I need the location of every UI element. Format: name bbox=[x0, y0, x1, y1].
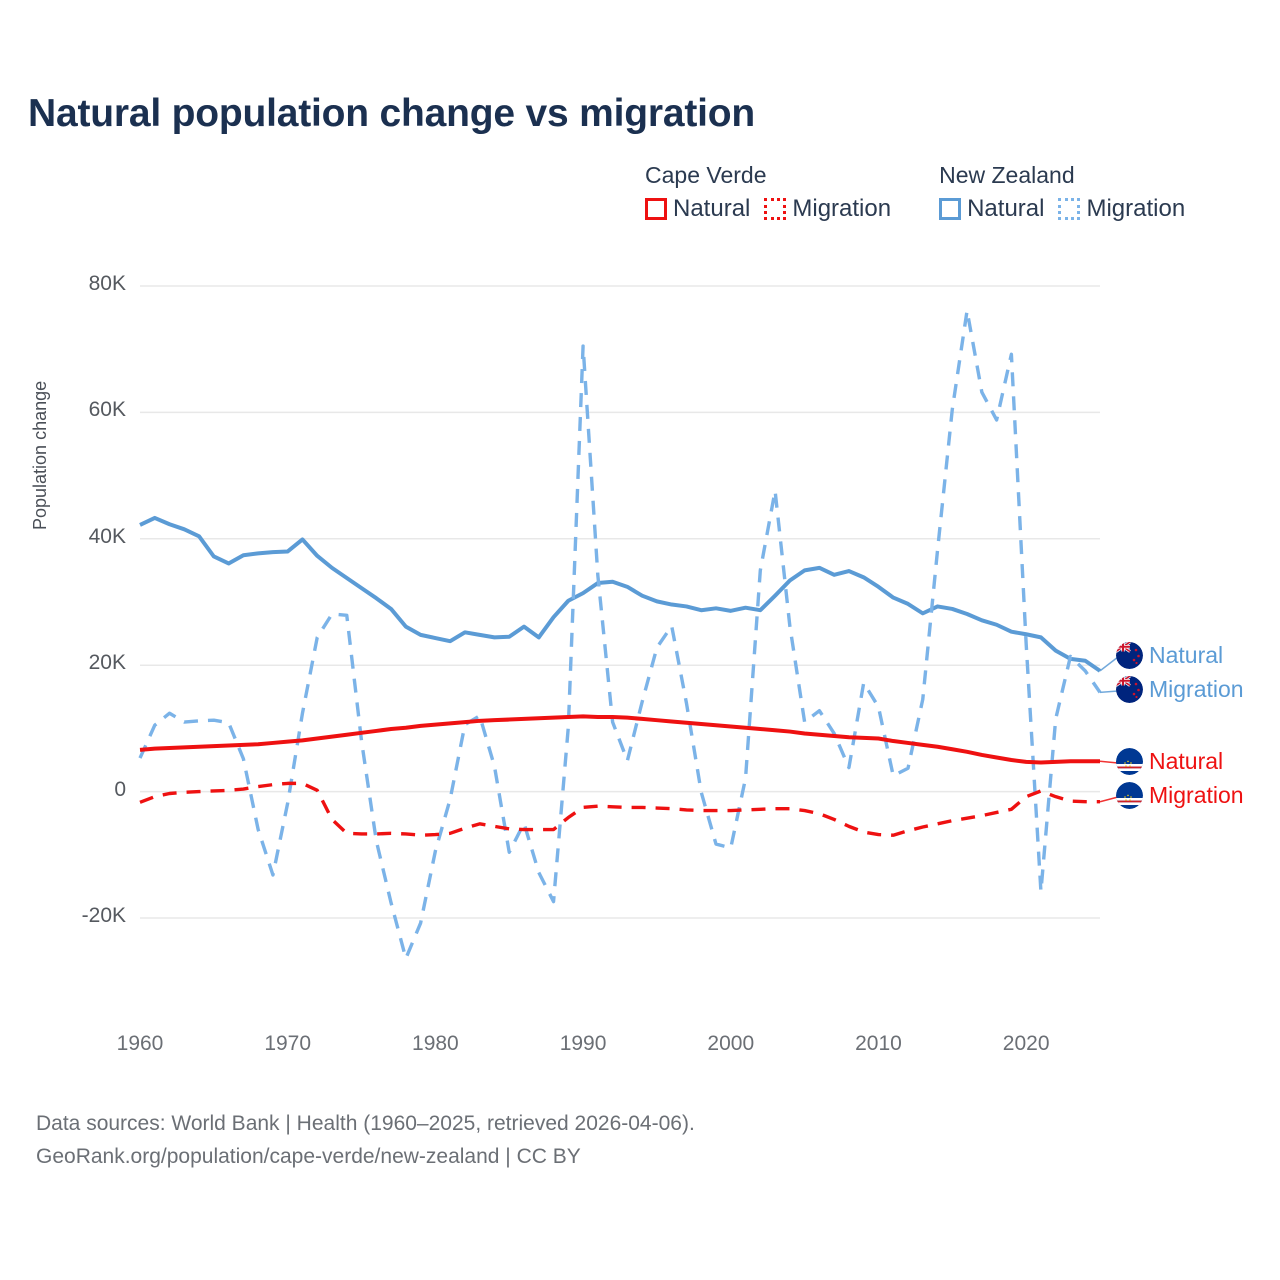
cape-verde-flag-icon bbox=[1116, 782, 1143, 809]
end-label-text: Natural bbox=[1149, 748, 1223, 775]
x-axis-tick-label: 1980 bbox=[390, 1032, 480, 1056]
y-axis-tick-label: 20K bbox=[36, 651, 126, 675]
footer-line-sources: Data sources: World Bank | Health (1960–… bbox=[36, 1108, 695, 1141]
end-label-new-zealand-natural[interactable]: Natural bbox=[1116, 642, 1223, 669]
end-label-text: Migration bbox=[1149, 782, 1244, 809]
series-line-new-zealand-migration bbox=[140, 311, 1100, 959]
chart-plot-area bbox=[0, 0, 1280, 1080]
cape-verde-flag-icon bbox=[1116, 748, 1143, 775]
y-axis-tick-label: 0 bbox=[36, 778, 126, 802]
y-axis-tick-label: 80K bbox=[36, 272, 126, 296]
x-axis-tick-label: 1970 bbox=[243, 1032, 333, 1056]
footer-attribution: Data sources: World Bank | Health (1960–… bbox=[36, 1108, 695, 1173]
x-axis-tick-label: 2010 bbox=[833, 1032, 923, 1056]
x-axis-tick-label: 1990 bbox=[538, 1032, 628, 1056]
y-axis-tick-label: 40K bbox=[36, 525, 126, 549]
x-axis-tick-label: 1960 bbox=[95, 1032, 185, 1056]
x-axis-tick-label: 2020 bbox=[981, 1032, 1071, 1056]
x-axis-tick-label: 2000 bbox=[686, 1032, 776, 1056]
end-label-text: Natural bbox=[1149, 642, 1223, 669]
chart-page: Natural population change vs migration C… bbox=[0, 0, 1280, 1280]
y-axis-tick-label: -20K bbox=[36, 904, 126, 928]
y-axis-tick-label: 60K bbox=[36, 398, 126, 422]
new-zealand-flag-icon bbox=[1116, 642, 1143, 669]
end-label-cape-verde-migration[interactable]: Migration bbox=[1116, 782, 1244, 809]
footer-line-url: GeoRank.org/population/cape-verde/new-ze… bbox=[36, 1141, 695, 1174]
end-label-text: Migration bbox=[1149, 676, 1244, 703]
end-label-cape-verde-natural[interactable]: Natural bbox=[1116, 748, 1223, 775]
new-zealand-flag-icon bbox=[1116, 676, 1143, 703]
end-label-new-zealand-migration[interactable]: Migration bbox=[1116, 676, 1244, 703]
series-line-new-zealand-natural bbox=[140, 518, 1100, 671]
